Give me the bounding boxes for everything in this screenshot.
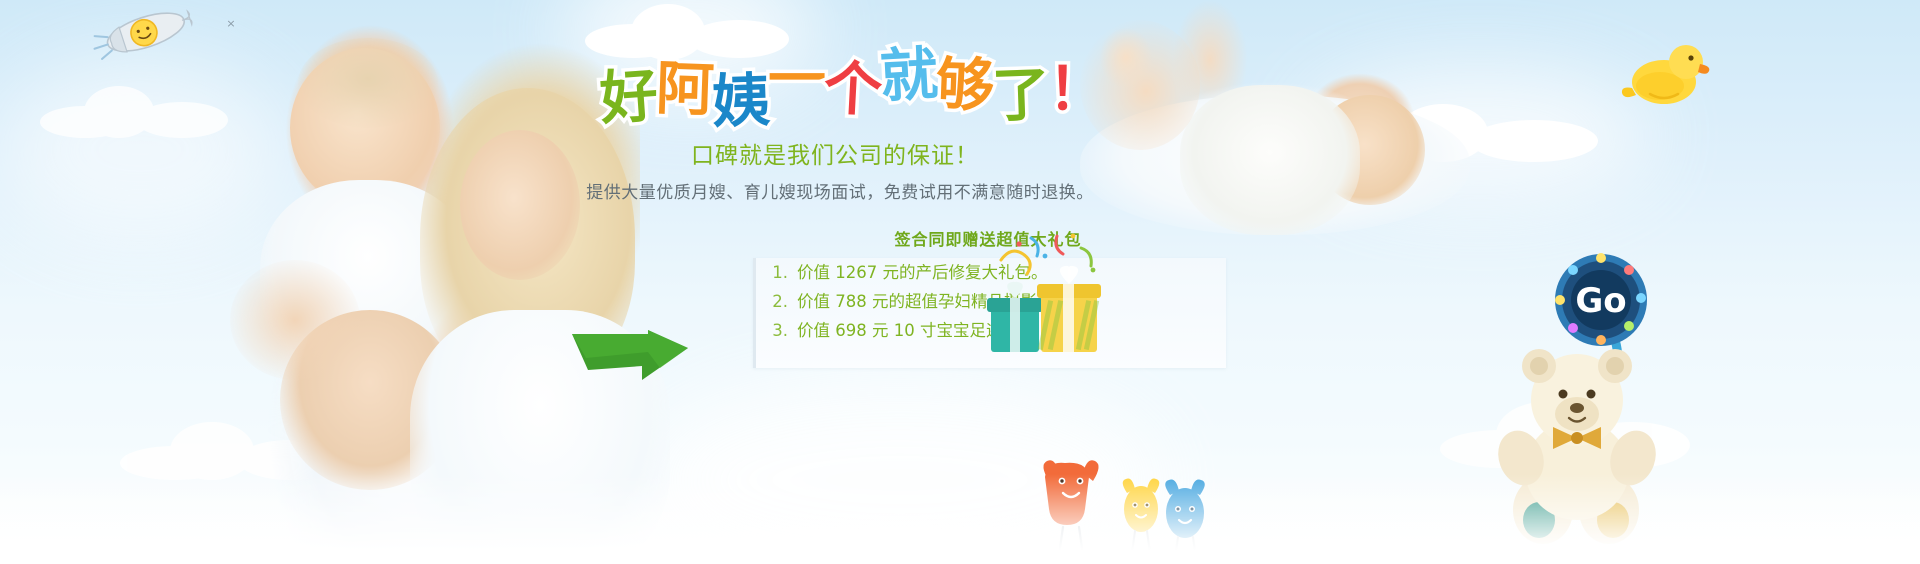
woman-arm — [230, 260, 360, 380]
duck-icon — [1620, 38, 1710, 108]
promo-banner: × 好阿姨一个就够了！ 口碑就是我们公司的保证！ 提供大量优质月嫂、育儿嫂现场面… — [0, 0, 1920, 564]
headline-char-5: 就 — [879, 45, 938, 106]
list-item-number: 2. — [768, 287, 788, 316]
headline-char-7: 了 — [991, 65, 1049, 125]
headline-char-0: 好 — [598, 66, 658, 128]
headline-char-3: 一 — [768, 50, 824, 108]
close-icon[interactable]: × — [225, 18, 237, 30]
baby-hair — [298, 38, 438, 128]
list-item-number: 1. — [768, 258, 788, 287]
headline-char-8: ！ — [1048, 60, 1104, 118]
baby-right-body — [1180, 85, 1360, 235]
baby-lying-photo — [1060, 0, 1480, 250]
green-arrow-icon — [570, 330, 690, 388]
gift-boxes-icon — [985, 230, 1115, 365]
headline-char-2: 姨 — [711, 71, 769, 131]
list-item-number: 3. — [768, 316, 788, 345]
headline-char-4: 个 — [823, 59, 882, 120]
rattle-label: Go — [1575, 281, 1626, 321]
page-title: 好阿姨一个就够了！ — [600, 58, 1070, 138]
baby-right-foot — [1100, 28, 1152, 88]
headline-char-1: 阿 — [655, 59, 713, 119]
rocket-icon[interactable] — [88, 2, 198, 64]
subtitle: 口碑就是我们公司的保证！ — [600, 136, 1070, 170]
headline-char-6: 够 — [935, 55, 993, 115]
bottom-fade — [0, 474, 1920, 564]
woman-face — [460, 130, 580, 280]
description-text: 提供大量优质月嫂、育儿嫂现场面试，免费试用不满意随时退换。 — [570, 178, 1110, 203]
